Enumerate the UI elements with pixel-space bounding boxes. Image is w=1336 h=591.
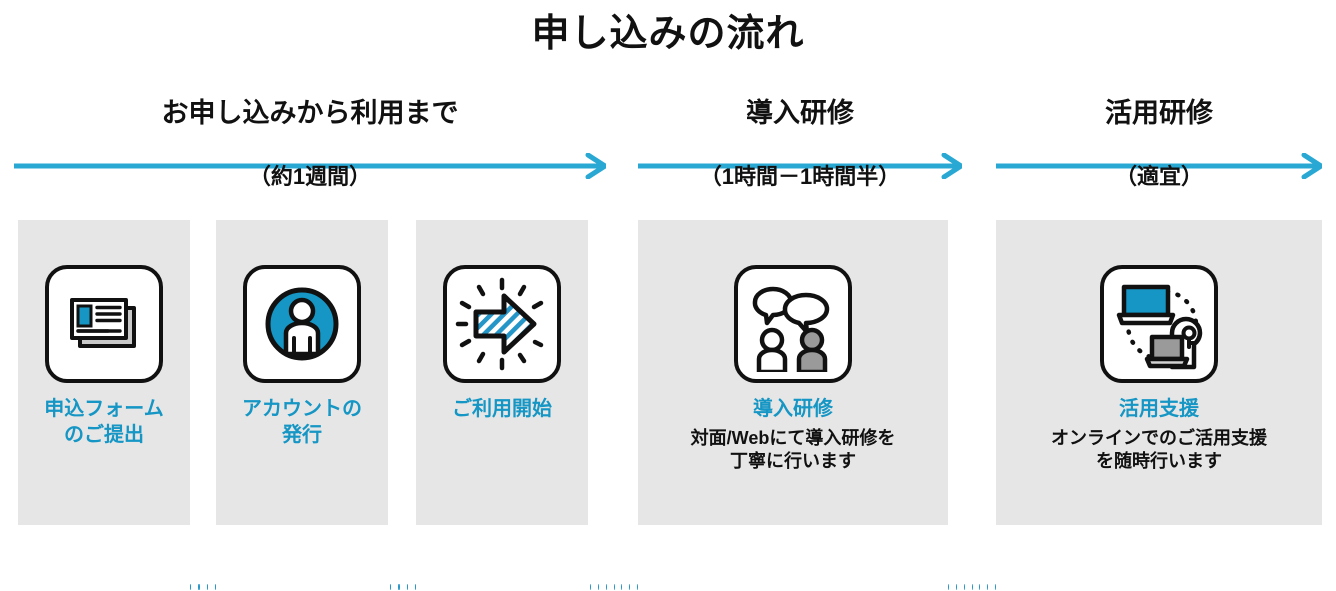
people-speech-bubbles-icon <box>745 276 841 372</box>
connector-dot <box>964 584 965 590</box>
phase-duration: （適宜） <box>996 164 1322 189</box>
form-documents-icon <box>58 278 150 370</box>
step-utilization-support[interactable]: 活用支援オンラインでのご活用支援 を随時行います <box>996 220 1322 525</box>
phase-intro-training: 導入研修 （1時間－1時間半） <box>638 98 962 210</box>
step-icon-box <box>243 265 361 383</box>
step-account-issue[interactable]: アカウントの 発行 <box>216 220 388 525</box>
steps-row: 申込フォーム のご提出 アカウントの 発行 <box>0 220 1336 525</box>
connector-dot <box>606 584 607 590</box>
connector-dot <box>995 584 996 590</box>
connector-dot <box>407 584 408 590</box>
remote-laptop-support-icon <box>1110 275 1208 373</box>
connector-dot <box>198 584 199 590</box>
connector-dot <box>987 584 988 590</box>
connector-dot <box>629 584 630 590</box>
connector-dot <box>390 584 391 590</box>
connector-dot <box>207 584 208 590</box>
connector-dot <box>598 584 599 590</box>
phase-duration: （約1週間） <box>14 164 606 189</box>
connector-dot <box>398 584 399 590</box>
connector-dot <box>637 584 638 590</box>
connector-2 <box>390 583 416 591</box>
connector-1 <box>190 583 216 591</box>
step-icon-box <box>1100 265 1218 383</box>
connector-dot <box>979 584 980 590</box>
step-intro-training[interactable]: 導入研修対面/Webにて導入研修を 丁寧に行います <box>638 220 948 525</box>
connector-dot <box>215 584 216 590</box>
connector-dot <box>956 584 957 590</box>
phase-title: お申し込みから利用まで <box>14 98 606 129</box>
connector-dot <box>190 584 191 590</box>
phase-duration: （1時間－1時間半） <box>638 164 962 189</box>
connector-dot <box>621 584 622 590</box>
step-title: 導入研修 <box>753 397 833 423</box>
phase-band: お申し込みから利用まで （約1週間）導入研修 （1時間－1時間半）活用研修 （適… <box>0 98 1336 210</box>
connector-dot <box>614 584 615 590</box>
phase-title: 導入研修 <box>638 98 962 129</box>
connector-dot <box>948 584 949 590</box>
step-application-form[interactable]: 申込フォーム のご提出 <box>18 220 190 525</box>
step-icon-box <box>443 265 561 383</box>
step-title: 申込フォーム のご提出 <box>44 397 163 448</box>
connector-dot <box>590 584 591 590</box>
step-description: 対面/Webにて導入研修を 丁寧に行います <box>691 427 896 474</box>
step-description: オンラインでのご活用支援 を随時行います <box>1051 427 1267 474</box>
striped-arrow-burst-icon <box>452 274 552 374</box>
connector-dot <box>415 584 416 590</box>
step-service-start[interactable]: ご利用開始 <box>416 220 588 525</box>
phase-utilization-training: 活用研修 （適宜） <box>996 98 1322 210</box>
connector-3 <box>590 583 638 591</box>
user-circle-icon <box>256 278 348 370</box>
phase-application: お申し込みから利用まで （約1週間） <box>14 98 606 210</box>
step-icon-box <box>734 265 852 383</box>
phase-title: 活用研修 <box>996 98 1322 129</box>
step-title: アカウントの 発行 <box>242 397 362 448</box>
step-title: 活用支援 <box>1119 397 1199 423</box>
step-icon-box <box>45 265 163 383</box>
step-title: ご利用開始 <box>452 397 552 423</box>
connector-4 <box>948 583 996 591</box>
page-title: 申し込みの流れ <box>0 14 1336 56</box>
connector-dot <box>972 584 973 590</box>
